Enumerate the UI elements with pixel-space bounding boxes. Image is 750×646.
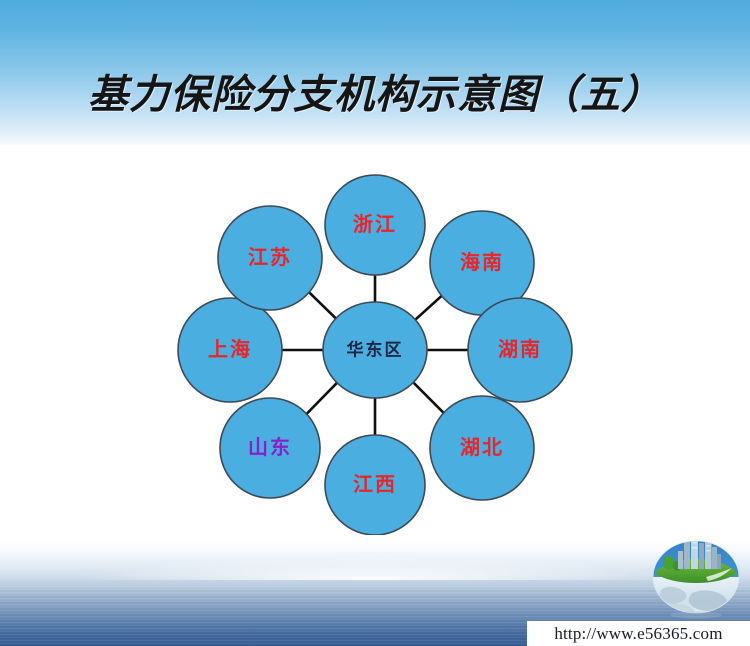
watermark-url-bar: http://www.e56365.com xyxy=(527,621,750,646)
sea-horizon-glow xyxy=(0,540,750,580)
node-jiangxi-label: 江西 xyxy=(353,473,397,496)
node-hainan-label: 海南 xyxy=(460,250,504,274)
globe-icon xyxy=(648,527,744,619)
node-shandong-label: 山东 xyxy=(248,435,292,459)
node-hubei-label: 湖北 xyxy=(460,436,504,459)
watermark-url-text: http://www.e56365.com xyxy=(554,624,722,644)
node-shanghai[interactable]: 上海 xyxy=(178,298,282,402)
connector-hainan xyxy=(415,296,441,320)
diagram-svg: 浙江海南湖南湖北江西山东上海江苏华东区 xyxy=(170,165,590,535)
slide-canvas: 基力保险分支机构示意图（五） 浙江海南湖南湖北江西山东上海江苏华东区 xyxy=(0,0,750,646)
node-jiangsu-label: 江苏 xyxy=(248,246,292,269)
node-zhejiang[interactable]: 浙江 xyxy=(325,175,425,275)
node-hunan[interactable]: 湖南 xyxy=(468,298,572,402)
node-jiangxi[interactable]: 江西 xyxy=(325,435,425,535)
connector-jiangsu xyxy=(309,292,336,318)
node-hubei[interactable]: 湖北 xyxy=(430,396,534,500)
connector-shandong xyxy=(307,383,337,414)
node-shanghai-label: 上海 xyxy=(208,337,252,361)
node-center-huadong-label: 华东区 xyxy=(347,340,404,360)
branch-structure-diagram: 浙江海南湖南湖北江西山东上海江苏华东区 xyxy=(170,165,590,535)
node-hunan-label: 湖南 xyxy=(498,338,542,361)
page-title: 基力保险分支机构示意图（五） xyxy=(0,62,750,120)
node-center-huadong[interactable]: 华东区 xyxy=(323,302,427,398)
diagram-nodes: 浙江海南湖南湖北江西山东上海江苏华东区 xyxy=(178,175,572,535)
connector-hubei xyxy=(413,382,443,413)
node-jiangsu[interactable]: 江苏 xyxy=(218,206,322,310)
node-shandong[interactable]: 山东 xyxy=(220,398,320,498)
node-zhejiang-label: 浙江 xyxy=(353,212,397,236)
globe-city-logo xyxy=(648,527,744,619)
